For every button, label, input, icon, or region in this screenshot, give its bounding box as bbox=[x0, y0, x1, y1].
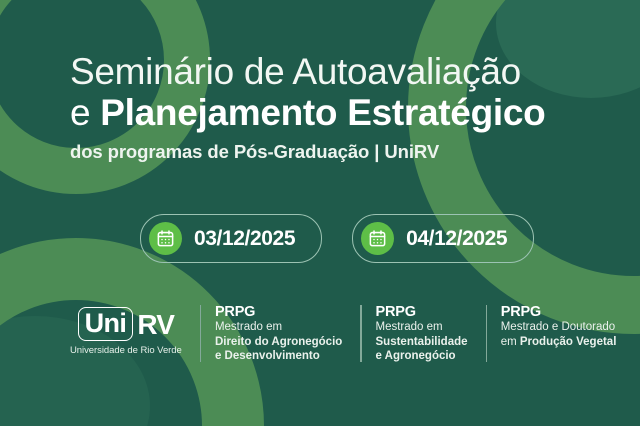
program-title: PRPG bbox=[501, 304, 617, 320]
program-column-1: PRPG Mestrado em Direito do Agronegócio … bbox=[215, 303, 342, 364]
program-line-1: Mestrado e Doutorado bbox=[501, 321, 617, 335]
unirv-logo: Uni RV Universidade de Rio Verde bbox=[70, 303, 182, 356]
program-line-3-strong: e Desenvolvimento bbox=[215, 350, 320, 362]
program-line-2-prefix: em bbox=[501, 336, 520, 348]
logo-tagline: Universidade de Rio Verde bbox=[70, 345, 182, 356]
title-line-2: e Planejamento Estratégico bbox=[70, 92, 610, 134]
date-value: 03/12/2025 bbox=[194, 227, 295, 251]
program-line-2-strong: Produção Vegetal bbox=[520, 336, 617, 348]
date-badge-1[interactable]: 03/12/2025 bbox=[140, 214, 322, 263]
program-title: PRPG bbox=[215, 304, 342, 320]
program-column-2: PRPG Mestrado em Sustentabilidade e Agro… bbox=[376, 303, 468, 364]
program-line-2: Direito do Agronegócio bbox=[215, 336, 342, 350]
title-block: Seminário de Autoavaliação e Planejament… bbox=[70, 52, 610, 163]
program-line-1: Mestrado em bbox=[215, 321, 342, 335]
date-badge-2[interactable]: 04/12/2025 bbox=[352, 214, 534, 263]
footer-divider-3 bbox=[486, 305, 487, 362]
program-line-2: em Produção Vegetal bbox=[501, 336, 617, 350]
date-value: 04/12/2025 bbox=[406, 227, 507, 251]
footer-divider-2 bbox=[360, 305, 361, 362]
title-line-2-light: e bbox=[70, 92, 90, 133]
logo-rv-text: RV bbox=[137, 310, 174, 339]
logo-mark: Uni RV bbox=[78, 307, 175, 341]
program-line-3-strong: e Agronegócio bbox=[376, 350, 456, 362]
calendar-icon bbox=[361, 222, 394, 255]
footer-divider-1 bbox=[200, 305, 201, 362]
program-line-1: Mestrado em bbox=[376, 321, 468, 335]
program-line-2: Sustentabilidade bbox=[376, 336, 468, 350]
logo-uni-box: Uni bbox=[78, 307, 134, 341]
event-poster: Seminário de Autoavaliação e Planejament… bbox=[0, 0, 640, 426]
subtitle: dos programas de Pós-Graduação | UniRV bbox=[70, 141, 610, 163]
date-badge-list: 03/12/2025 bbox=[140, 214, 534, 263]
program-title: PRPG bbox=[376, 304, 468, 320]
calendar-icon bbox=[149, 222, 182, 255]
program-line-3: e Desenvolvimento bbox=[215, 350, 342, 364]
title-line-1: Seminário de Autoavaliação bbox=[70, 52, 610, 92]
program-line-2-strong: Direito do Agronegócio bbox=[215, 336, 342, 348]
footer: Uni RV Universidade de Rio Verde PRPG Me… bbox=[70, 303, 616, 364]
program-line-2-strong: Sustentabilidade bbox=[376, 336, 468, 348]
program-line-3: e Agronegócio bbox=[376, 350, 468, 364]
title-line-2-bold: Planejamento Estratégico bbox=[100, 92, 545, 133]
program-column-3: PRPG Mestrado e Doutorado em Produção Ve… bbox=[501, 303, 617, 349]
